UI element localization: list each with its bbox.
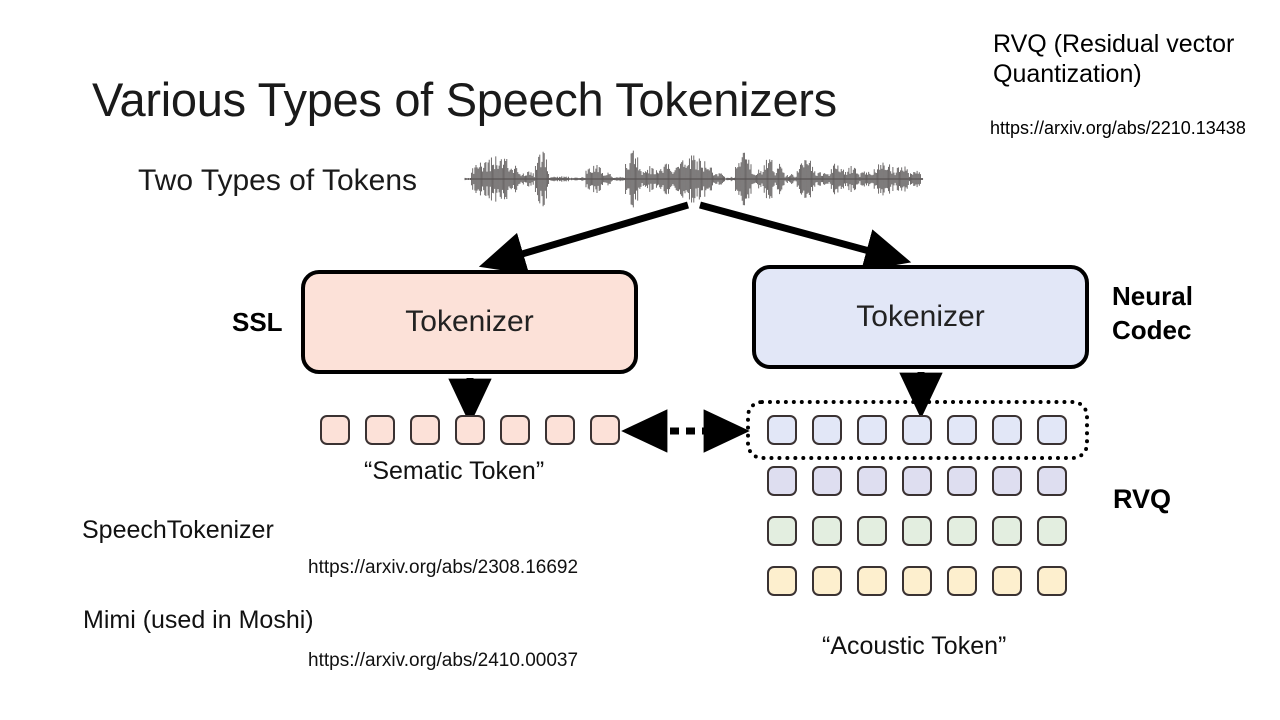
label-neural-codec: Neural Codec	[1112, 279, 1272, 348]
acoustic-token-row-3	[767, 516, 1067, 546]
ssl-tokenizer-label: Tokenizer	[405, 305, 533, 339]
acoustic-token-r2-3	[857, 466, 887, 496]
acoustic-token-r3-5	[947, 516, 977, 546]
acoustic-token-r3-4	[902, 516, 932, 546]
semantic-token-row	[320, 415, 620, 445]
semantic-token-6	[545, 415, 575, 445]
acoustic-token-r4-3	[857, 566, 887, 596]
reference-link-mimi: https://arxiv.org/abs/2410.00037	[308, 650, 578, 672]
acoustic-token-r1-2	[812, 415, 842, 445]
acoustic-token-r3-6	[992, 516, 1022, 546]
acoustic-token-r2-4	[902, 466, 932, 496]
acoustic-token-r4-2	[812, 566, 842, 596]
acoustic-token-r4-4	[902, 566, 932, 596]
acoustic-token-r1-3	[857, 415, 887, 445]
codec-tokenizer-label: Tokenizer	[856, 300, 984, 334]
semantic-token-1	[320, 415, 350, 445]
acoustic-token-row-2	[767, 466, 1067, 496]
acoustic-token-r1-5	[947, 415, 977, 445]
acoustic-token-r3-2	[812, 516, 842, 546]
acoustic-token-row-1	[767, 415, 1067, 445]
semantic-token-5	[500, 415, 530, 445]
semantic-token-7	[590, 415, 620, 445]
reference-name-speechtokenizer: SpeechTokenizer	[82, 516, 274, 545]
ssl-tokenizer-box[interactable]: Tokenizer	[301, 270, 638, 374]
rvq-expansion-note: RVQ (Residual vector Quantization)	[993, 30, 1265, 89]
label-ssl: SSL	[232, 307, 283, 338]
acoustic-token-row-4	[767, 566, 1067, 596]
acoustic-token-r1-6	[992, 415, 1022, 445]
acoustic-token-r1-7	[1037, 415, 1067, 445]
semantic-token-2	[365, 415, 395, 445]
acoustic-token-r1-1	[767, 415, 797, 445]
semantic-token-4	[455, 415, 485, 445]
arrow-to-codec-tokenizer	[700, 205, 895, 258]
reference-link-speechtokenizer: https://arxiv.org/abs/2308.16692	[308, 557, 578, 579]
rvq-reference-link: https://arxiv.org/abs/2210.13438	[990, 118, 1258, 140]
caption-acoustic-token: “Acoustic Token”	[822, 632, 1006, 661]
acoustic-token-r2-1	[767, 466, 797, 496]
acoustic-token-r4-1	[767, 566, 797, 596]
subtitle-two-types-of-tokens: Two Types of Tokens	[138, 164, 417, 198]
acoustic-token-r2-7	[1037, 466, 1067, 496]
acoustic-token-r4-6	[992, 566, 1022, 596]
acoustic-token-r3-1	[767, 516, 797, 546]
acoustic-token-r4-7	[1037, 566, 1067, 596]
caption-semantic-token: “Sematic Token”	[364, 457, 544, 486]
reference-name-mimi: Mimi (used in Moshi)	[83, 606, 314, 635]
speech-waveform	[463, 148, 925, 210]
page-title: Various Types of Speech Tokenizers	[92, 72, 952, 127]
label-rvq: RVQ	[1113, 484, 1171, 515]
neural-codec-tokenizer-box[interactable]: Tokenizer	[752, 265, 1089, 369]
acoustic-token-r4-5	[947, 566, 977, 596]
acoustic-token-r1-4	[902, 415, 932, 445]
acoustic-token-r3-7	[1037, 516, 1067, 546]
acoustic-token-r3-3	[857, 516, 887, 546]
semantic-token-3	[410, 415, 440, 445]
arrow-to-ssl-tokenizer	[495, 205, 688, 262]
acoustic-token-r2-2	[812, 466, 842, 496]
acoustic-token-r2-5	[947, 466, 977, 496]
acoustic-token-r2-6	[992, 466, 1022, 496]
